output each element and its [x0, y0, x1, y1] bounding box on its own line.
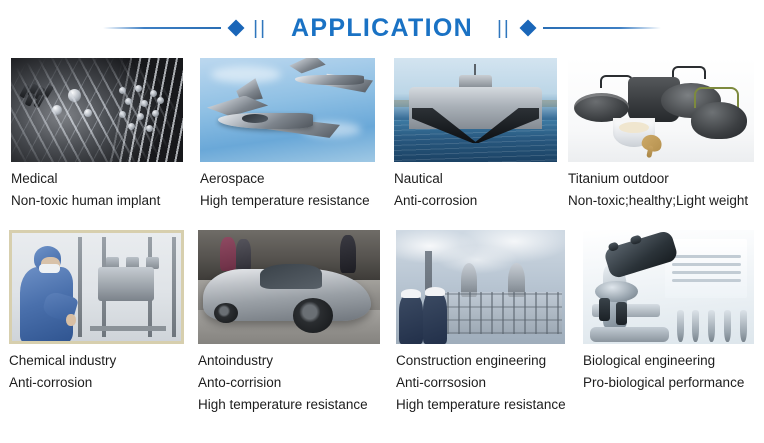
item-desc-line: Anti-corrsosion	[396, 372, 580, 394]
naval-catamaran-photo	[394, 58, 557, 162]
header-rule-right	[543, 27, 661, 29]
double-bar-icon-right: ||	[497, 19, 511, 38]
application-item-nautical: Nautical Anti-corrosion	[394, 58, 564, 212]
item-title: Construction engineering	[396, 350, 580, 372]
wooden-spoon	[641, 132, 665, 153]
item-title: Nautical	[394, 168, 564, 190]
construction-worker-left	[399, 294, 423, 344]
medical-bits-detail	[21, 83, 59, 106]
titanium-cookware-photo	[568, 58, 754, 162]
application-item-auto-industry: Antoindustry Anto-corrision High tempera…	[198, 230, 388, 416]
page-title: APPLICATION	[291, 14, 473, 43]
item-title: Antoindustry	[198, 350, 388, 372]
diamond-icon-left	[228, 20, 245, 37]
microscope	[590, 237, 682, 342]
item-desc-line: Anti-corrosion	[9, 372, 191, 394]
application-item-biological-engineering: Biological engineering Pro-biological pe…	[583, 230, 763, 394]
item-desc-line: High temperature resistance	[200, 190, 382, 212]
fighter-jet-front	[207, 93, 340, 147]
bystander-mid	[236, 239, 251, 271]
application-item-medical: Medical Non-toxic human implant	[11, 58, 191, 212]
item-desc-line: Pro-biological performance	[583, 372, 763, 394]
refinery-construction-photo	[396, 230, 565, 344]
chemical-plant-worker-photo	[9, 230, 184, 344]
item-desc-line: Non-toxic human implant	[11, 190, 191, 212]
fighter-jets-photo	[200, 58, 375, 162]
car-wheel-rear	[293, 298, 333, 332]
item-desc-line: High temperature resistance	[198, 394, 388, 416]
item-title: Biological engineering	[583, 350, 763, 372]
application-header: || APPLICATION ||	[0, 0, 764, 56]
lab-instruments	[672, 310, 751, 342]
hard-hat-right	[425, 287, 445, 296]
item-title: Medical	[11, 168, 191, 190]
item-title: Aerospace	[200, 168, 382, 190]
sports-car-windshield	[260, 264, 322, 289]
medical-screws-detail	[116, 85, 171, 135]
item-desc-line: High temperature resistance	[396, 394, 580, 416]
item-desc-line: Anti-corrosion	[394, 190, 564, 212]
medical-instruments-photo	[11, 58, 183, 162]
microscope-lab-photo	[583, 230, 754, 344]
cleanroom-worker	[19, 244, 76, 341]
sports-car-photo	[198, 230, 380, 344]
application-item-construction-engineering: Construction engineering Anti-corrsosion…	[396, 230, 580, 416]
cook-kettle	[691, 102, 747, 139]
application-item-aerospace: Aerospace High temperature resistance	[200, 58, 382, 212]
hard-hat-left	[401, 289, 421, 298]
application-item-titanium-outdoor: Titanium outdoor Non-toxic;healthy;Light…	[568, 58, 758, 212]
bystander-left	[220, 237, 236, 271]
construction-worker-right	[423, 292, 447, 344]
item-desc-line: Anto-corrision	[198, 372, 388, 394]
header-rule-left	[103, 27, 221, 29]
diamond-icon-right	[519, 20, 536, 37]
chemical-equipment-rig	[76, 237, 176, 336]
item-title: Chemical industry	[9, 350, 191, 372]
item-title: Titanium outdoor	[568, 168, 758, 190]
item-desc-line: Non-toxic;healthy;Light weight	[568, 190, 758, 212]
application-item-chemical-industry: Chemical industry Anti-corrosion	[9, 230, 191, 394]
bystander-right	[340, 235, 356, 274]
double-bar-icon-left: ||	[253, 19, 267, 38]
